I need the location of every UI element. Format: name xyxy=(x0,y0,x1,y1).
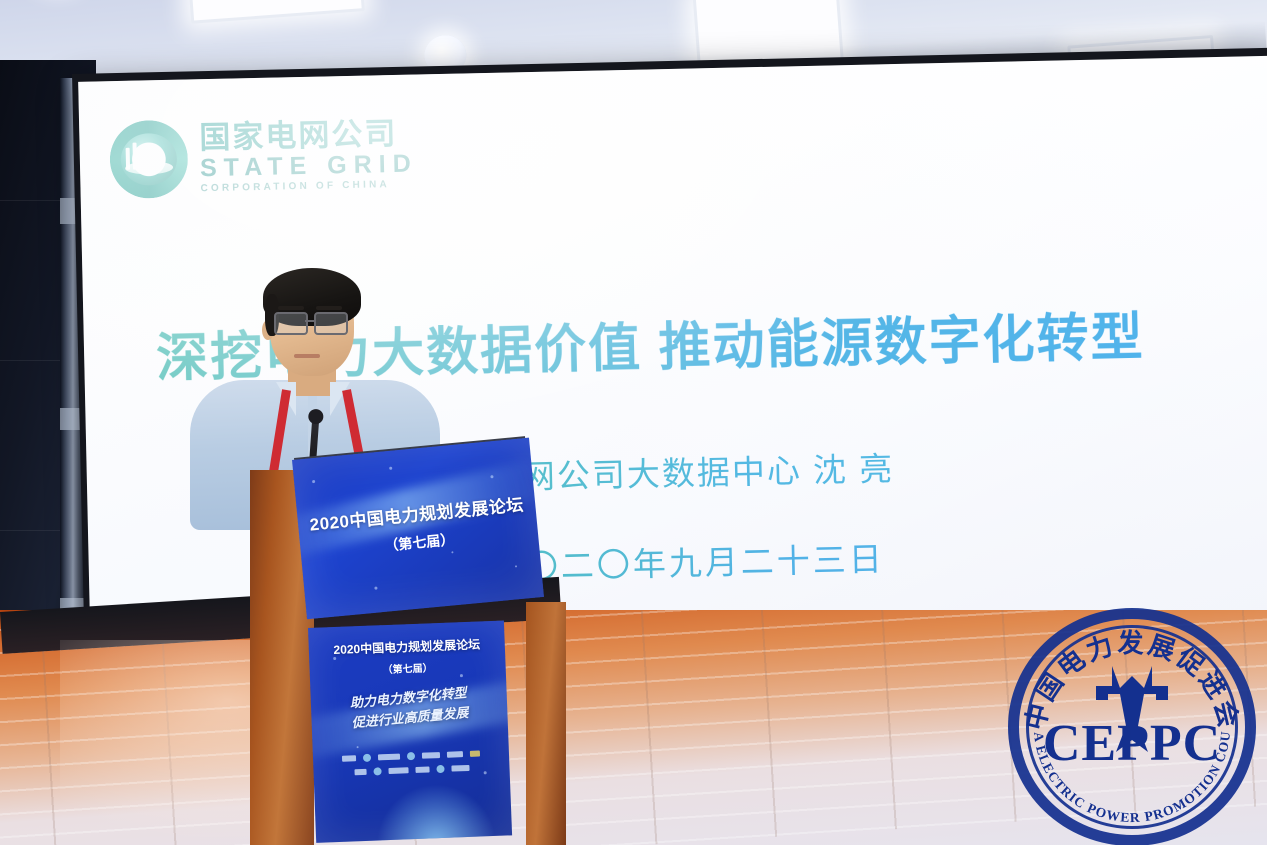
speaker-eyebrow xyxy=(278,306,304,310)
ceiling-panel-light xyxy=(187,0,365,24)
conference-photo-scene: 国家电网公司 STATE GRID CORPORATION OF CHINA 深… xyxy=(0,0,1267,845)
state-grid-emblem-icon xyxy=(109,120,189,200)
banner-light-burst xyxy=(374,782,496,843)
podium: 2020中国电力规划发展论坛 （第七届） 2020中国电力规划发展论坛 （第七届… xyxy=(250,452,570,845)
sponsor-mark xyxy=(363,754,371,762)
podium-top-banner: 2020中国电力规划发展论坛 （第七届） xyxy=(292,438,544,620)
state-grid-logo: 国家电网公司 STATE GRID CORPORATION OF CHINA xyxy=(109,114,418,199)
seal-acronym: CEPPC xyxy=(1008,714,1256,773)
sponsor-mark xyxy=(422,752,440,759)
sponsor-row xyxy=(323,763,499,778)
podium-front-edition: （第七届） xyxy=(309,656,505,679)
sponsor-mark xyxy=(378,754,400,761)
logo-english-subtitle: CORPORATION OF CHINA xyxy=(200,179,418,194)
sponsor-mark xyxy=(354,769,366,775)
sponsor-mark xyxy=(447,751,463,758)
sponsor-logo-strip xyxy=(323,749,500,784)
logo-chinese-name: 国家电网公司 xyxy=(199,117,417,153)
state-grid-wordmark: 国家电网公司 STATE GRID CORPORATION OF CHINA xyxy=(199,117,418,194)
sponsor-mark xyxy=(373,767,381,775)
sponsor-mark xyxy=(388,767,408,774)
logo-english-name: STATE GRID xyxy=(200,151,418,181)
sponsor-mark xyxy=(415,766,429,773)
sponsor-mark xyxy=(342,755,356,762)
podium-front-title: 2020中国电力规划发展论坛 xyxy=(309,634,506,659)
sponsor-mark xyxy=(470,750,480,756)
podium-front-banner: 2020中国电力规划发展论坛 （第七届） 助力电力数字化转型 促进行业高质量发展 xyxy=(308,620,512,842)
ceppc-watermark-seal: 中国电力发展促进会 CHINA ELECTRIC POWER PROMOTION… xyxy=(1008,608,1256,845)
tower-bars-shape xyxy=(126,142,145,169)
speaker-glasses-icon xyxy=(274,312,348,332)
podium-wood-right xyxy=(526,602,566,845)
sponsor-mark xyxy=(451,765,469,772)
speaker-mouth xyxy=(294,354,320,358)
sponsor-mark xyxy=(407,752,415,760)
sponsor-mark xyxy=(436,765,444,773)
speaker-eyebrow xyxy=(316,306,342,310)
